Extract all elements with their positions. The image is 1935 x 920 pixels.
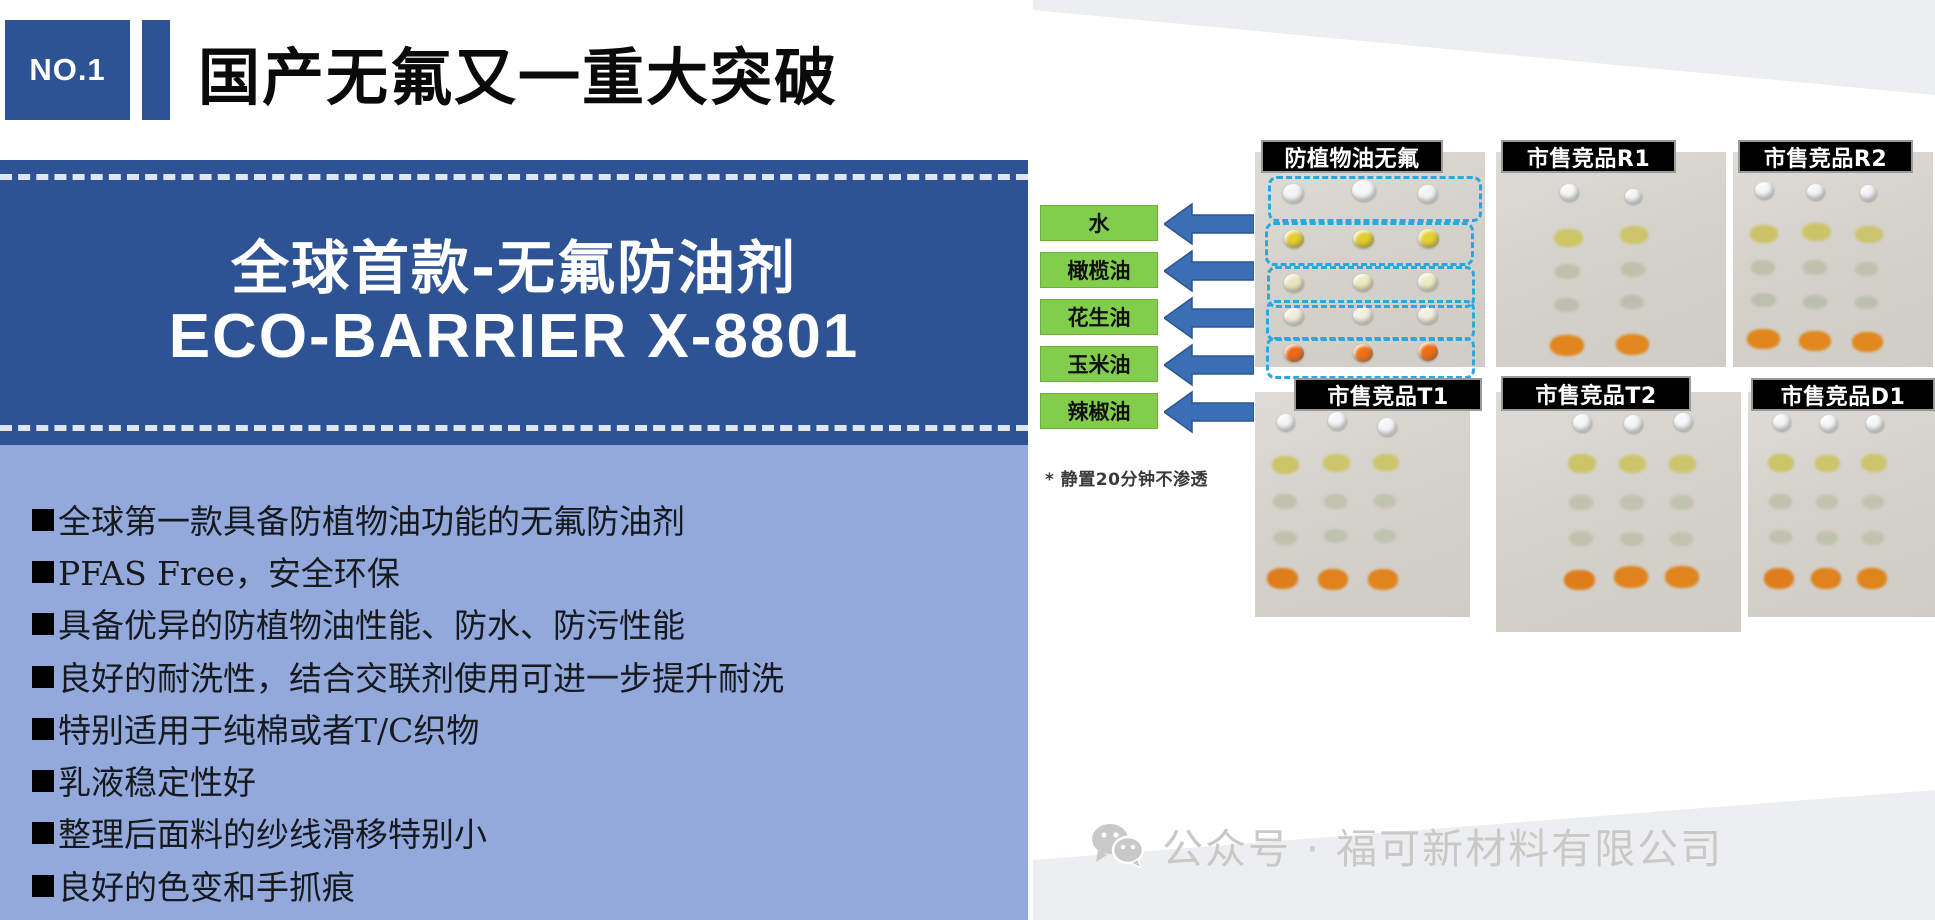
panel-title-fluorine-free: 防植物油无氟 bbox=[1261, 140, 1443, 173]
test-panel-r2 bbox=[1733, 152, 1933, 367]
slide-header: NO.1 国产无氟又一重大突破 bbox=[0, 0, 1033, 150]
right-column: 水 橄榄油 花生油 玉米油 辣椒油 * 静置20分钟不渗透 bbox=[1033, 0, 1935, 920]
list-item-label: 全球第一款具备防植物油功能的无氟防油剂 bbox=[58, 500, 685, 544]
bullet-square-icon bbox=[32, 561, 54, 583]
list-item: 良好的耐洗性，结合交联剂使用可进一步提升耐洗 bbox=[32, 657, 1028, 701]
bullet-square-icon bbox=[32, 666, 54, 688]
highlight-box-corn bbox=[1266, 300, 1475, 341]
product-banner: 全球首款-无氟防油剂 ECO-BARRIER X-8801 bbox=[0, 160, 1028, 445]
test-panel-r1 bbox=[1496, 152, 1726, 367]
test-panel-t2 bbox=[1496, 392, 1741, 632]
banner-dashed-bottom bbox=[0, 425, 1028, 431]
list-item: 整理后面料的纱线滑移特别小 bbox=[32, 813, 1028, 857]
no1-badge-label: NO.1 bbox=[29, 52, 105, 88]
list-item: 乳液稳定性好 bbox=[32, 761, 1028, 805]
list-item-label: 整理后面料的纱线滑移特别小 bbox=[58, 813, 487, 857]
test-panel-t1 bbox=[1255, 392, 1470, 617]
panel-title-r1: 市售竞品R1 bbox=[1501, 140, 1676, 173]
panel-title-t2: 市售竞品T2 bbox=[1501, 376, 1691, 411]
product-tagline: 全球首款-无氟防油剂 bbox=[231, 234, 797, 302]
bullet-square-icon bbox=[32, 718, 54, 740]
highlight-box-olive bbox=[1265, 222, 1474, 266]
highlight-box-water bbox=[1268, 176, 1482, 222]
accent-bar bbox=[142, 20, 170, 120]
panel-title-d1: 市售竞品D1 bbox=[1751, 378, 1935, 411]
bullet-square-icon bbox=[32, 770, 54, 792]
left-column: NO.1 国产无氟又一重大突破 全球首款-无氟防油剂 ECO-BARRIER X… bbox=[0, 0, 1033, 920]
no1-badge: NO.1 bbox=[5, 20, 130, 120]
panel-title-r2: 市售竞品R2 bbox=[1738, 140, 1913, 173]
wechat-icon bbox=[1090, 822, 1146, 868]
list-item-label: 具备优异的防植物油性能、防水、防污性能 bbox=[58, 604, 685, 648]
list-item-label: 特别适用于纯棉或者T/C织物 bbox=[58, 709, 479, 753]
banner-dashed-top bbox=[0, 174, 1028, 180]
list-item-label: PFAS Free，安全环保 bbox=[58, 552, 400, 596]
list-item-label: 良好的耐洗性，结合交联剂使用可进一步提升耐洗 bbox=[58, 657, 784, 701]
test-panel-grid: 防植物油无氟 市售竞品R1 bbox=[1033, 0, 1935, 920]
bullet-square-icon bbox=[32, 613, 54, 635]
list-item: 特别适用于纯棉或者T/C织物 bbox=[32, 709, 1028, 753]
bullet-square-icon bbox=[32, 875, 54, 897]
test-panel-d1 bbox=[1748, 392, 1935, 617]
product-name: ECO-BARRIER X-8801 bbox=[169, 302, 860, 371]
list-item: PFAS Free，安全环保 bbox=[32, 552, 1028, 596]
list-item-label: 良好的色变和手抓痕 bbox=[58, 866, 355, 910]
page-title: 国产无氟又一重大突破 bbox=[198, 22, 1018, 122]
bullet-square-icon bbox=[32, 509, 54, 531]
highlight-box-chili bbox=[1266, 337, 1475, 379]
watermark: 公众号 · 福可新材料有限公司 bbox=[1090, 815, 1723, 875]
feature-list: 全球第一款具备防植物油功能的无氟防油剂 PFAS Free，安全环保 具备优异的… bbox=[0, 445, 1028, 920]
list-item: 具备优异的防植物油性能、防水、防污性能 bbox=[32, 604, 1028, 648]
list-item: 全球第一款具备防植物油功能的无氟防油剂 bbox=[32, 500, 1028, 544]
list-item-label: 乳液稳定性好 bbox=[58, 761, 256, 805]
watermark-text: 公众号 · 福可新材料有限公司 bbox=[1162, 815, 1723, 875]
panel-title-t1: 市售竞品T1 bbox=[1294, 378, 1482, 411]
slide-root: NO.1 国产无氟又一重大突破 全球首款-无氟防油剂 ECO-BARRIER X… bbox=[0, 0, 1935, 920]
list-item: 良好的色变和手抓痕 bbox=[32, 866, 1028, 910]
bullet-square-icon bbox=[32, 822, 54, 844]
